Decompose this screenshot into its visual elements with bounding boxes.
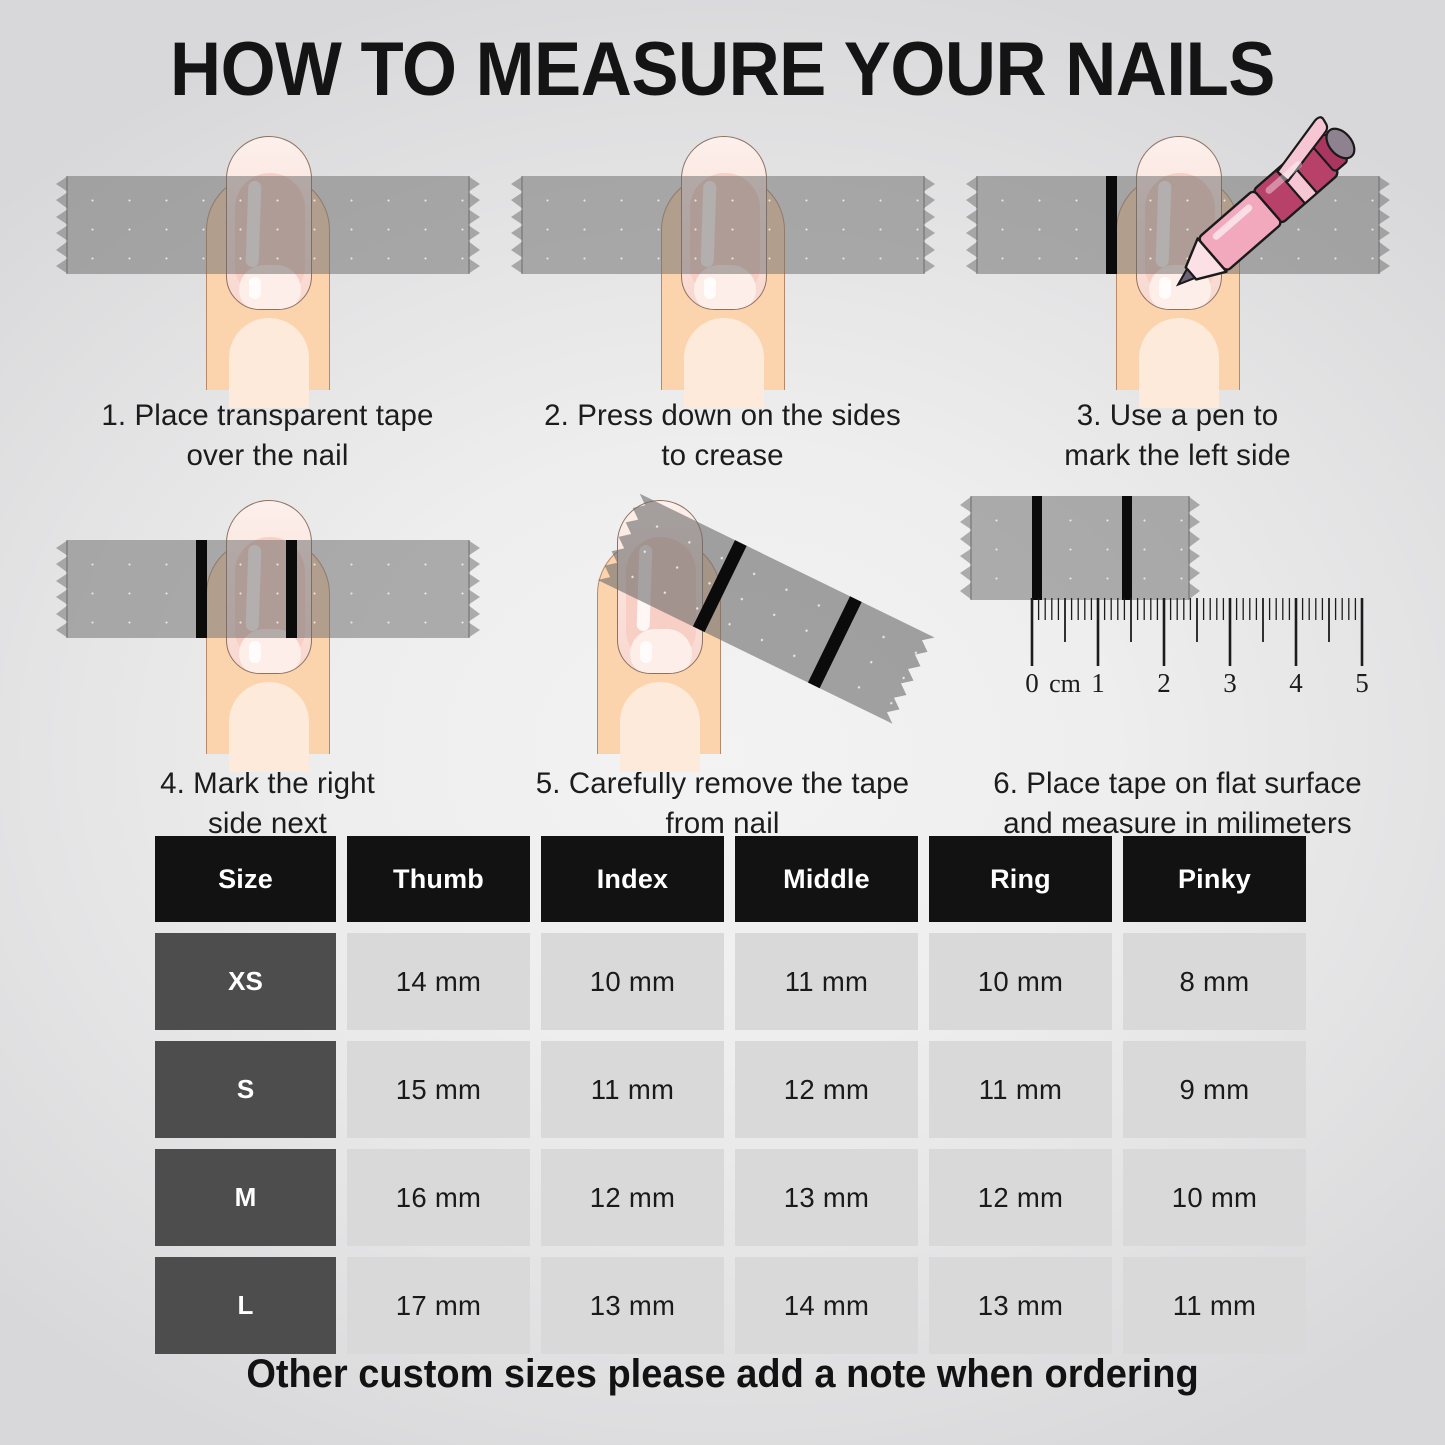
measurement-cell: 13 mm [929, 1257, 1112, 1354]
steps-grid: 1. Place transparent tape over the nail … [40, 112, 1405, 844]
measurement-cell: 9 mm [1123, 1041, 1306, 1138]
table-row: M16 mm12 mm13 mm12 mm10 mm [155, 1149, 1323, 1246]
page-title: HOW TO MEASURE YOUR NAILS [51, 26, 1395, 113]
step-5: 5. Carefully remove the tape from nail [495, 476, 950, 844]
measurement-cell: 11 mm [541, 1041, 724, 1138]
table-header-ring: Ring [929, 836, 1112, 922]
measurement-cell: 15 mm [347, 1041, 530, 1138]
measurement-cell: 8 mm [1123, 933, 1306, 1030]
measurement-cell: 13 mm [541, 1257, 724, 1354]
table-row: L17 mm13 mm14 mm13 mm11 mm [155, 1257, 1323, 1354]
step-6-caption: 6. Place tape on flat surface and measur… [950, 758, 1405, 844]
table-header-pinky: Pinky [1123, 836, 1306, 922]
step-5-caption-line1: 5. Carefully remove the tape [495, 764, 950, 804]
step-6-illustration: 012345 cm [950, 476, 1405, 758]
measurement-cell: 11 mm [735, 933, 918, 1030]
measurement-cell: 16 mm [347, 1149, 530, 1246]
step-5-caption: 5. Carefully remove the tape from nail [495, 758, 950, 844]
table-header-thumb: Thumb [347, 836, 530, 922]
measurement-cell: 14 mm [735, 1257, 918, 1354]
tape-peeling-icon [587, 490, 939, 740]
size-label-cell: L [155, 1257, 336, 1354]
step-3-caption-line2: mark the left side [950, 436, 1405, 476]
step-2-illustration [495, 112, 950, 390]
pen-mark-right [1122, 496, 1132, 600]
measurement-cell: 17 mm [347, 1257, 530, 1354]
ruler-tick-label: 1 [1091, 668, 1105, 698]
table-header-size: Size [155, 836, 336, 922]
step-4: 4. Mark the right side next [40, 476, 495, 844]
tape-strip-icon [56, 540, 480, 638]
pen-icon [1150, 112, 1400, 302]
measurement-cell: 11 mm [929, 1041, 1112, 1138]
step-6-caption-line1: 6. Place tape on flat surface [950, 764, 1405, 804]
table-header-index: Index [541, 836, 724, 922]
size-label-cell: M [155, 1149, 336, 1246]
step-1-caption-line2: over the nail [40, 436, 495, 476]
pen-mark-left [196, 540, 207, 638]
measurement-cell: 13 mm [735, 1149, 918, 1246]
steps-row-2: 4. Mark the right side next [40, 476, 1405, 844]
measurement-cell: 10 mm [929, 933, 1112, 1030]
tape-strip-icon [960, 496, 1200, 600]
tape-strip-icon [56, 176, 480, 274]
size-label-cell: S [155, 1041, 336, 1138]
ruler-tick-label: 3 [1223, 668, 1237, 698]
measurement-cell: 12 mm [929, 1149, 1112, 1246]
table-header-row: SizeThumbIndexMiddleRingPinky [155, 836, 1323, 922]
step-3: 3. Use a pen to mark the left side [950, 112, 1405, 476]
step-1: 1. Place transparent tape over the nail [40, 112, 495, 476]
ruler-tick-label: 5 [1355, 668, 1369, 698]
pen-mark-right [286, 540, 297, 638]
step-3-illustration [950, 112, 1405, 390]
size-table: SizeThumbIndexMiddleRingPinky XS14 mm10 … [155, 836, 1323, 1365]
step-1-illustration [40, 112, 495, 390]
table-header-middle: Middle [735, 836, 918, 922]
measurement-cell: 14 mm [347, 933, 530, 1030]
measurement-cell: 10 mm [1123, 1149, 1306, 1246]
measurement-cell: 11 mm [1123, 1257, 1306, 1354]
table-row: XS14 mm10 mm11 mm10 mm8 mm [155, 933, 1323, 1030]
ruler-icon: 012345 cm [960, 596, 1390, 736]
table-row: S15 mm11 mm12 mm11 mm9 mm [155, 1041, 1323, 1138]
step-2-caption-line2: to crease [495, 436, 950, 476]
ruler-unit-label: cm [1049, 669, 1081, 698]
size-label-cell: XS [155, 933, 336, 1030]
measurement-cell: 12 mm [735, 1041, 918, 1138]
pen-mark-left [1032, 496, 1042, 600]
ruler-tick-label: 0 [1025, 668, 1039, 698]
measurement-cell: 10 mm [541, 933, 724, 1030]
tape-strip-icon [511, 176, 935, 274]
step-2: 2. Press down on the sides to crease [495, 112, 950, 476]
step-4-illustration [40, 476, 495, 758]
ruler-tick-label: 2 [1157, 668, 1171, 698]
footer-note: Other custom sizes please add a note whe… [36, 1352, 1409, 1397]
steps-row-1: 1. Place transparent tape over the nail … [40, 112, 1405, 476]
step-6: 012345 cm 6. Place tape on flat surface … [950, 476, 1405, 844]
measurement-cell: 12 mm [541, 1149, 724, 1246]
step-5-illustration [495, 476, 950, 758]
pen-mark-left [1106, 176, 1117, 274]
ruler-tick-label: 4 [1289, 668, 1303, 698]
